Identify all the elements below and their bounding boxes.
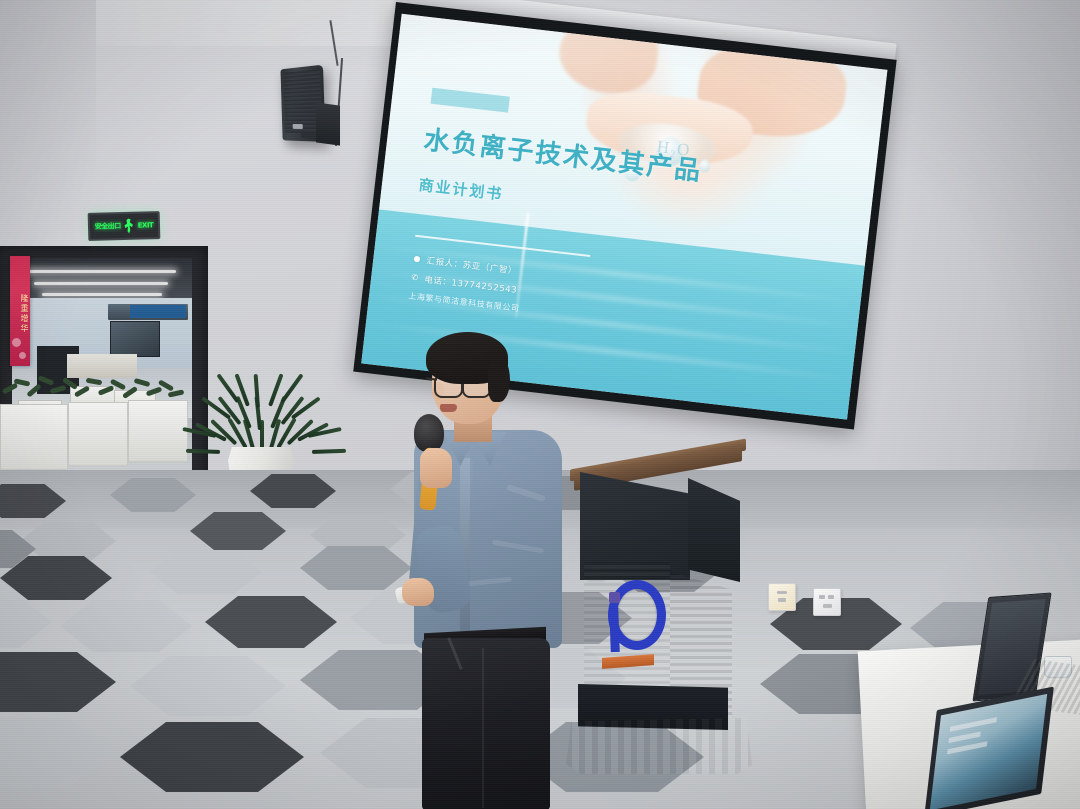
planter-box	[128, 400, 188, 462]
floor-tile	[150, 550, 262, 594]
wall-outlet-right[interactable]	[813, 588, 841, 616]
wall-outlet-left[interactable]	[768, 583, 796, 611]
presenter-trousers	[422, 638, 550, 809]
floor-tile	[130, 656, 286, 716]
planter-box	[68, 402, 128, 466]
running-man-icon	[123, 218, 136, 233]
banner-flower-icon	[12, 338, 21, 347]
floor-tile	[60, 600, 192, 652]
potted-palm-foliage	[200, 348, 332, 456]
microphone-head	[414, 414, 444, 452]
left-wall-return	[0, 0, 96, 250]
floor-tile	[120, 722, 304, 792]
logo-stem-shape	[609, 608, 620, 652]
presenter-hand-holding-mic	[420, 448, 452, 488]
ceiling-light-strip	[26, 270, 176, 273]
tablet-screen	[930, 694, 1047, 809]
tablet-lid	[924, 686, 1054, 809]
floor-tile	[0, 718, 114, 788]
speaker-badge	[293, 124, 303, 129]
presenter	[396, 330, 596, 809]
banner-flower-icon	[19, 352, 26, 359]
office-sign-blue	[130, 305, 186, 318]
presenter-hand-holding-clicker	[402, 578, 434, 606]
speaker-wall-bracket	[316, 102, 340, 145]
presenter-hair-side	[488, 356, 510, 402]
ceiling-light-strip	[34, 282, 168, 285]
doorway-banner: 隆重增华	[10, 256, 30, 366]
presenter-mouth	[440, 404, 457, 412]
trouser-crease	[482, 648, 484, 808]
exit-sign-label-cn: 安全出口	[95, 221, 121, 232]
planter-box	[0, 404, 68, 470]
laptop-tablet[interactable]	[930, 700, 1080, 809]
office-monitor	[110, 321, 160, 357]
presentation-room-photo: 隆重增华 安全出口 EXIT	[0, 0, 1080, 809]
logo-dot-shape	[609, 592, 620, 603]
lectern-side-panel	[688, 478, 740, 582]
floor-tile	[205, 596, 337, 648]
exit-sign: 安全出口 EXIT	[88, 211, 161, 241]
phone-icon: ✆	[410, 273, 420, 283]
floor-tile	[0, 652, 116, 712]
podium-logo	[602, 574, 648, 654]
exit-sign-label-en: EXIT	[138, 221, 154, 229]
floor-tile	[0, 596, 52, 648]
person-icon: ●	[412, 254, 422, 264]
contact-phone-text: 电话：13774252543	[424, 273, 518, 296]
ceiling-light-strip	[42, 293, 162, 296]
